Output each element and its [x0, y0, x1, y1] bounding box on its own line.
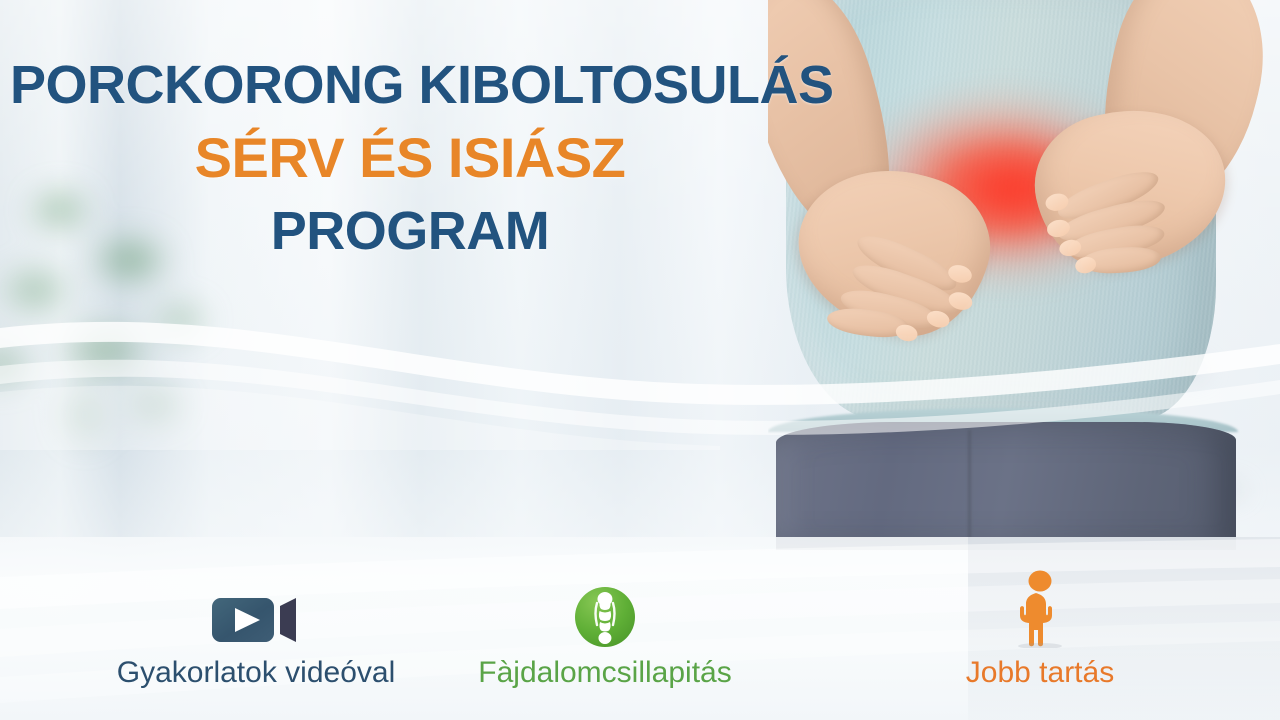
title-line-3: PROGRAM [0, 204, 820, 258]
video-camera-icon [210, 570, 302, 648]
feature-label-pain-relief: Fàjdalomcsillapitás [478, 658, 731, 688]
feature-label-posture: Jobb tartás [966, 658, 1114, 688]
feature-item-posture[interactable]: Jobb tartás [870, 570, 1210, 720]
feature-item-pain-relief[interactable]: Fàjdalomcsillapitás [440, 570, 770, 720]
feature-item-video[interactable]: Gyakorlatok videóval [46, 570, 466, 720]
poster-canvas: PORCKORONG KIBOLTOSULÁS SÉRV ÉS ISIÁSZ P… [0, 0, 1280, 720]
feature-row: Gyakorlatok videóval [0, 570, 1280, 720]
back-pain-photo [768, 0, 1280, 550]
feature-label-video: Gyakorlatok videóval [117, 658, 395, 688]
standing-person-icon [1007, 570, 1073, 648]
poster-title-block: PORCKORONG KIBOLTOSULÁS SÉRV ÉS ISIÁSZ P… [0, 58, 820, 258]
wave-swoosh-decoration [0, 280, 1280, 450]
title-line-1: PORCKORONG KIBOLTOSULÁS [0, 58, 820, 112]
title-line-2: SÉRV ÉS ISIÁSZ [0, 130, 820, 186]
spine-circle-icon [574, 570, 636, 648]
